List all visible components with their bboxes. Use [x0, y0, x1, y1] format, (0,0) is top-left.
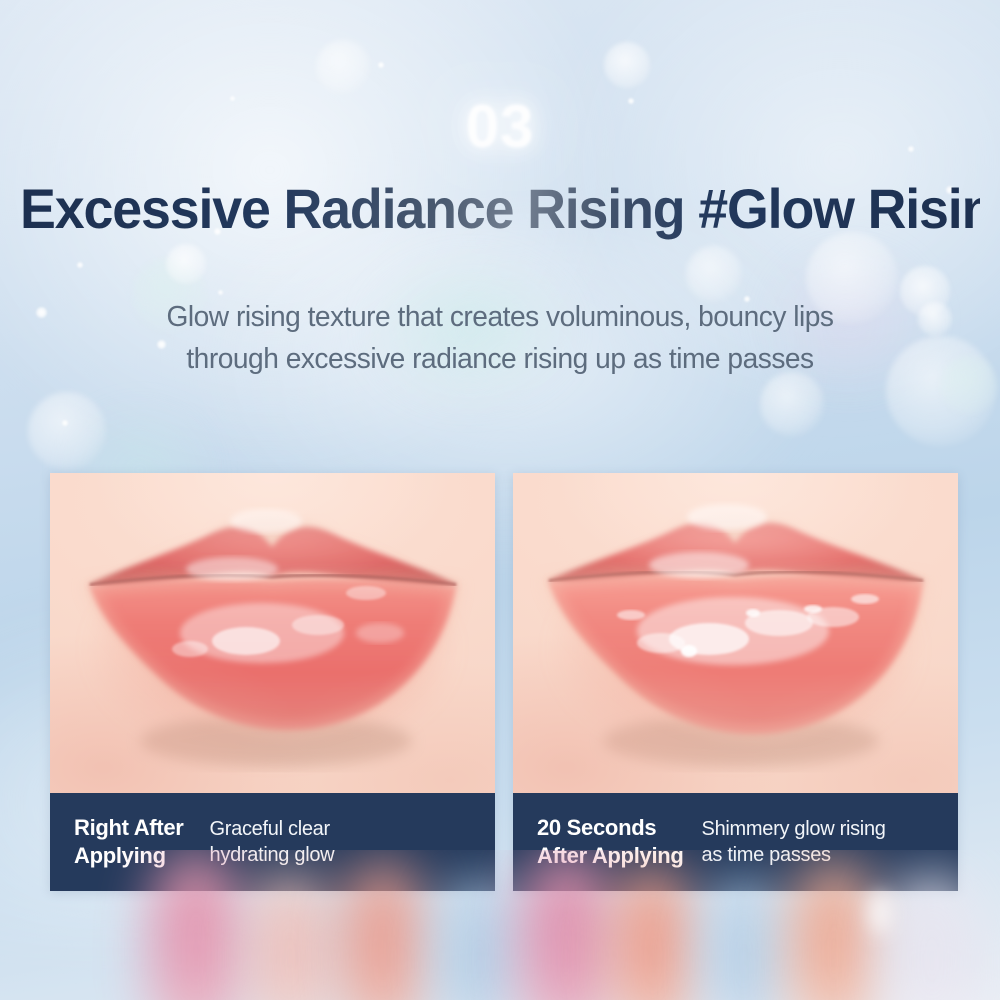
caption-desc-line-1: Graceful clear — [210, 816, 335, 842]
subtitle-line-1: Glow rising texture that creates volumin… — [15, 296, 985, 338]
page-title: Excessive Radiance Rising #Glow Rising — [20, 176, 980, 241]
bokeh-circle — [604, 42, 650, 88]
caption-desc-line-2: as time passes — [702, 842, 886, 868]
sparkle-dot — [378, 62, 384, 68]
sparkle-dot — [77, 262, 83, 268]
blurred-product — [884, 874, 980, 1000]
caption-title: Right After Applying — [74, 814, 184, 870]
blurred-product — [440, 880, 518, 1000]
comparison-panel-after[interactable]: 20 Seconds After Applying Shimmery glow … — [513, 473, 958, 891]
bokeh-circle — [28, 392, 106, 470]
bokeh-circle — [166, 244, 206, 284]
caption-title-line-2: Applying — [74, 842, 184, 870]
caption-title-line-1: Right After — [74, 814, 184, 842]
bokeh-circle — [686, 246, 742, 302]
caption-desc-line-2: hydrating glow — [210, 842, 335, 868]
caption-title-line-1: 20 Seconds — [537, 814, 684, 842]
comparison-panel-before[interactable]: Right After Applying Graceful clear hydr… — [50, 473, 495, 891]
blurred-highlight — [868, 892, 892, 934]
caption-description: Graceful clear hydrating glow — [210, 816, 335, 869]
subtitle-line-2: through excessive radiance rising up as … — [15, 338, 985, 380]
lips-illustration — [513, 473, 958, 793]
promo-page: 03 Excessive Radiance Rising #Glow Risin… — [0, 0, 1000, 1000]
bokeh-circle — [760, 372, 824, 436]
panel-caption-before: Right After Applying Graceful clear hydr… — [50, 793, 495, 891]
comparison-panels: Right After Applying Graceful clear hydr… — [50, 473, 958, 891]
section-number: 03 — [0, 92, 1000, 161]
panel-caption-after: 20 Seconds After Applying Shimmery glow … — [513, 793, 958, 891]
caption-description: Shimmery glow rising as time passes — [702, 816, 886, 869]
bokeh-circle — [316, 40, 370, 94]
lips-photo-20-seconds-after-applying — [513, 473, 958, 793]
lips-photo-right-after-applying — [50, 473, 495, 793]
caption-title-line-2: After Applying — [537, 842, 684, 870]
sparkle-dot — [62, 420, 68, 426]
lips-illustration — [50, 473, 495, 793]
blurred-product — [706, 880, 782, 1000]
caption-desc-line-1: Shimmery glow rising — [702, 816, 886, 842]
section-subtitle: Glow rising texture that creates volumin… — [15, 296, 985, 380]
caption-title: 20 Seconds After Applying — [537, 814, 684, 870]
sparkle-dot — [218, 290, 223, 295]
